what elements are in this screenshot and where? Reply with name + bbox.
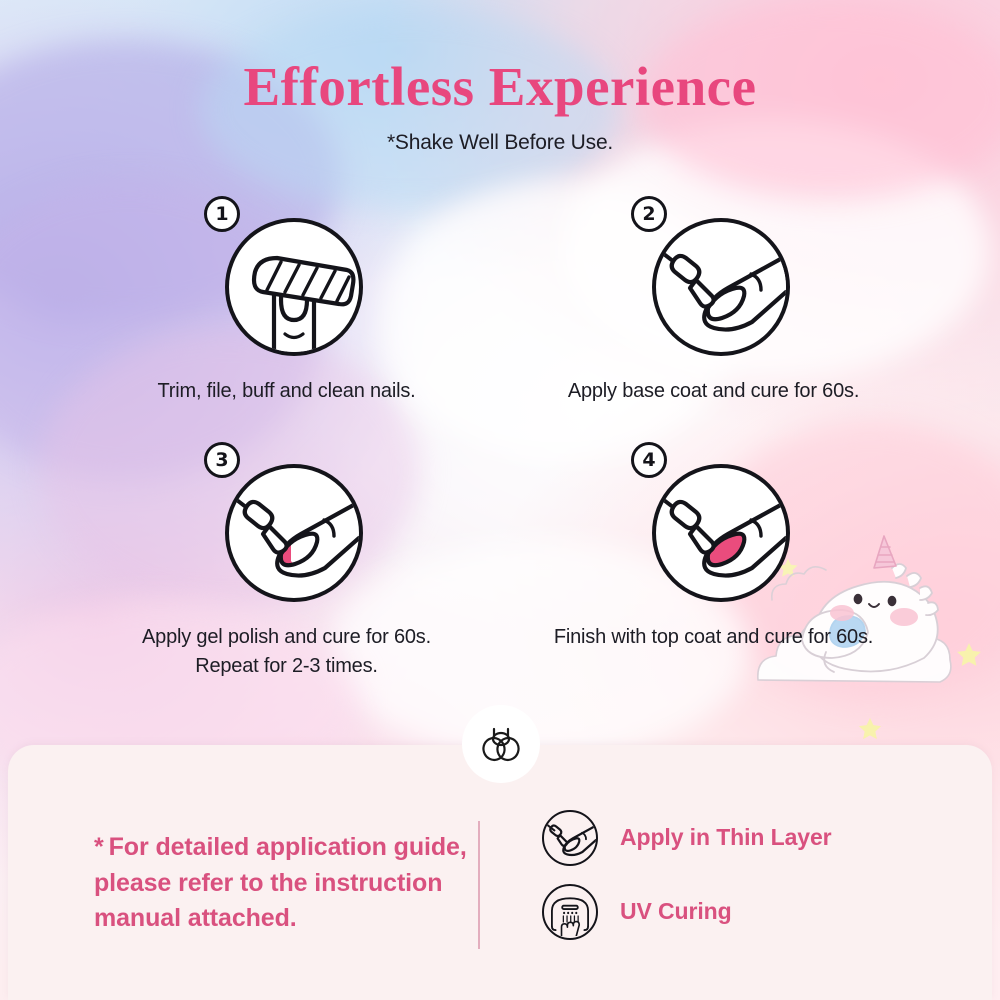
- step-number-badge-4: 4: [631, 442, 667, 478]
- step-item-4: 4: [528, 442, 900, 681]
- step-item-2: 2: [528, 196, 900, 406]
- step-artwork-3: 3: [199, 442, 374, 602]
- step-item-1: 1: [101, 196, 473, 406]
- step-caption-2: Apply base coat and cure for 60s.: [528, 377, 900, 406]
- thin-layer-brush-icon: [542, 810, 598, 866]
- feature-item-uv-curing: UV Curing: [542, 884, 832, 940]
- footer-content: *For detailed application guide, please …: [8, 745, 992, 1000]
- uv-lamp-icon: [542, 884, 598, 940]
- base-coat-brush-icon: [652, 218, 790, 356]
- page-subtitle: *Shake Well Before Use.: [0, 131, 1000, 155]
- step-number-badge-1: 1: [204, 196, 240, 232]
- note-text: For detailed application guide, please r…: [94, 833, 467, 932]
- step-number-badge-3: 3: [204, 442, 240, 478]
- step-artwork-1: 1: [199, 196, 374, 356]
- feature-label-thin-layer: Apply in Thin Layer: [620, 824, 832, 851]
- steps-row-1: 1: [0, 196, 1000, 406]
- nail-file-icon: [225, 218, 363, 356]
- feature-list: Apply in Thin Layer: [480, 788, 832, 958]
- gel-polish-brush-icon: [225, 464, 363, 602]
- step-caption-1: Trim, file, buff and clean nails.: [101, 377, 473, 406]
- step-item-3: 3: [101, 442, 473, 681]
- step-artwork-2: 2: [626, 196, 801, 356]
- page-title: Effortless Experience: [0, 55, 1000, 118]
- step-caption-4: Finish with top coat and cure for 60s.: [528, 623, 900, 652]
- note-asterisk: *: [94, 833, 104, 861]
- instruction-note: *For detailed application guide, please …: [8, 808, 478, 937]
- steps-grid: 1: [0, 196, 1000, 681]
- step-artwork-4: 4: [626, 442, 801, 602]
- top-coat-brush-icon: [652, 464, 790, 602]
- feature-item-thin-layer: Apply in Thin Layer: [542, 810, 832, 866]
- step-number-badge-2: 2: [631, 196, 667, 232]
- feature-label-uv-curing: UV Curing: [620, 898, 732, 925]
- step-caption-3: Apply gel polish and cure for 60s. Repea…: [101, 623, 473, 681]
- steps-row-2: 3: [0, 442, 1000, 681]
